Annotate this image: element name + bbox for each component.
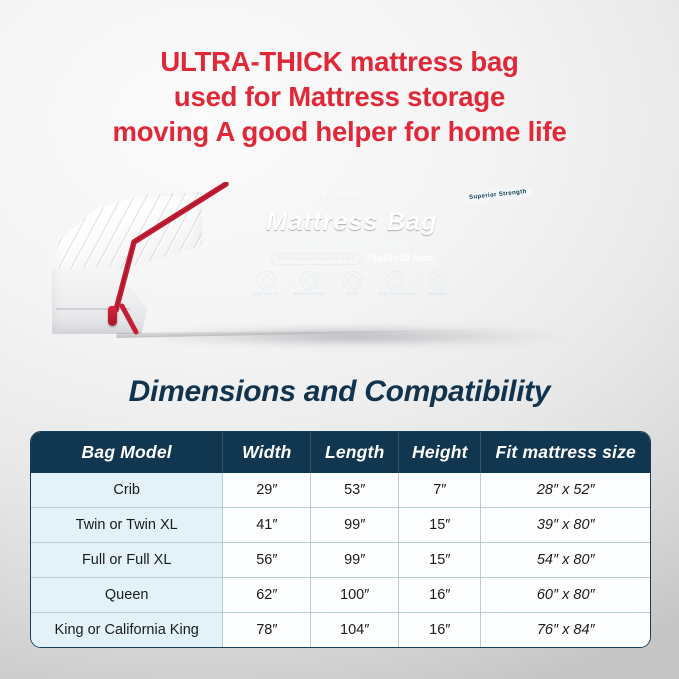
spec-row: With waterproof material 5 mil 76x84x15 … (236, 253, 468, 265)
zipper-icon (343, 271, 362, 290)
shield-icon (257, 271, 276, 290)
cell-model: King or California King (31, 613, 223, 648)
zipper-pull (108, 306, 117, 326)
product-image: ZCHENBS™ Superior Strength Mattress Bag … (0, 178, 679, 363)
feature-item: REUSABLE (422, 271, 454, 296)
water-drop-icon (300, 271, 319, 290)
column-header-fit-mattress: Fit mattress size (481, 432, 650, 473)
cell-height: 15″ (399, 508, 481, 543)
table-row: Twin or Twin XL 41″ 99″ 15″ 39″ x 80″ (31, 508, 650, 543)
cell-width: 62″ (223, 578, 311, 613)
cell-height: 16″ (399, 613, 481, 648)
cell-width: 29″ (223, 473, 311, 508)
cell-height: 7″ (399, 473, 481, 508)
feature-item: WATER RESISTANT (293, 271, 325, 296)
table-row: Crib 29″ 53″ 7″ 28″ x 52″ (31, 473, 650, 508)
product-name: Mattress Bag (236, 209, 468, 236)
cell-model: Full or Full XL (31, 543, 223, 578)
section-title: Dimensions and Compatibility (0, 375, 679, 409)
cell-fit: 28″ x 52″ (481, 473, 650, 508)
feature-item: THICK 5 MIL PE (250, 271, 282, 296)
tear-resistant-icon (386, 271, 405, 290)
feature-caption: ZIPPER (336, 292, 368, 296)
table-header-row: Bag Model Width Length Height Fit mattre… (31, 432, 650, 473)
feature-item: PUNCTURE RESISTANT (379, 271, 411, 296)
cell-length: 104″ (311, 613, 399, 648)
cell-fit: 76″ x 84″ (481, 613, 650, 648)
feature-caption: THICK 5 MIL PE (250, 292, 282, 296)
cell-fit: 39″ x 80″ (481, 508, 650, 543)
cell-model: Queen (31, 578, 223, 613)
table-row: Full or Full XL 56″ 99″ 15″ 54″ x 80″ (31, 543, 650, 578)
table-row: King or California King 78″ 104″ 16″ 76″… (31, 613, 650, 648)
table-row: Queen 62″ 100″ 16″ 60″ x 80″ (31, 578, 650, 613)
headline: ULTRA-THICK mattress bag used for Mattre… (0, 44, 679, 149)
cell-width: 41″ (223, 508, 311, 543)
material-pill: With waterproof material 5 mil (271, 253, 362, 265)
headline-line-3: moving A good helper for home life (0, 114, 679, 149)
cell-height: 16″ (399, 578, 481, 613)
cell-length: 99″ (311, 543, 399, 578)
cell-length: 53″ (311, 473, 399, 508)
cell-height: 15″ (399, 543, 481, 578)
cell-width: 56″ (223, 543, 311, 578)
column-header-length: Length (311, 432, 399, 473)
cell-fit: 54″ x 80″ (481, 543, 650, 578)
brand-name: ZCHENBS™ (236, 192, 468, 208)
dimensions-text: 76x84x15 inch (366, 253, 433, 264)
column-header-height: Height (399, 432, 481, 473)
dimensions-table: Bag Model Width Length Height Fit mattre… (30, 431, 651, 648)
feature-caption: REUSABLE (422, 292, 454, 296)
cell-model: Crib (31, 473, 223, 508)
feature-caption: WATER RESISTANT (293, 292, 325, 296)
cell-length: 100″ (311, 578, 399, 613)
headline-line-1: ULTRA-THICK mattress bag (0, 44, 679, 79)
infographic-page: ULTRA-THICK mattress bag used for Mattre… (0, 0, 679, 679)
column-header-width: Width (223, 432, 311, 473)
cell-fit: 60″ x 80″ (481, 578, 650, 613)
product-size-class: King/California King (236, 236, 468, 250)
cell-model: Twin or Twin XL (31, 508, 223, 543)
reusable-icon (429, 271, 448, 290)
headline-line-2: used for Mattress storage (0, 79, 679, 114)
bag-printed-label: ZCHENBS™ Superior Strength Mattress Bag … (236, 192, 468, 296)
cell-length: 99″ (311, 508, 399, 543)
feature-caption: PUNCTURE RESISTANT (379, 292, 411, 296)
feature-item: ZIPPER (336, 271, 368, 296)
feature-icon-row: THICK 5 MIL PE WATER RESISTANT ZIPPER PU… (236, 271, 468, 296)
cell-width: 78″ (223, 613, 311, 648)
column-header-bag-model: Bag Model (31, 432, 223, 473)
